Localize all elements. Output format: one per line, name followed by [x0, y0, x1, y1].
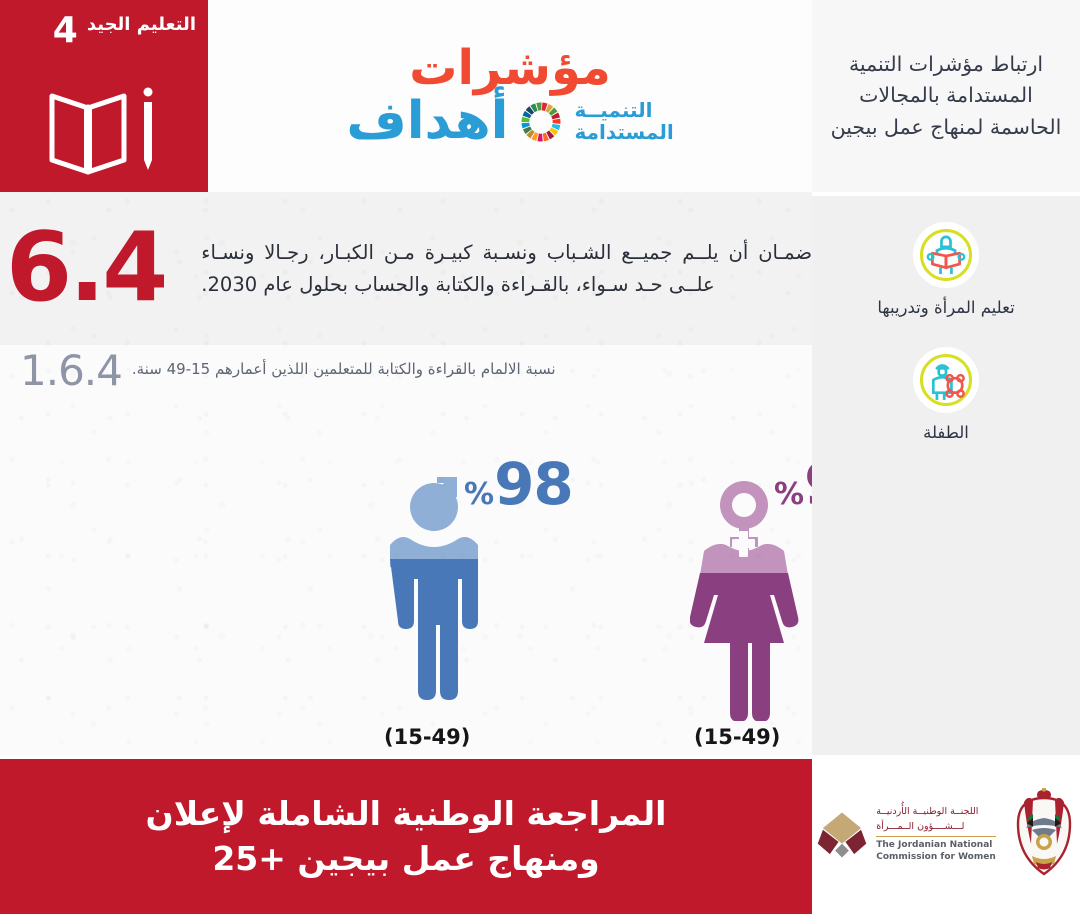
logo-word-tanmia: التنميــة المستدامة — [574, 100, 673, 143]
male-age-label: (15-49) — [384, 725, 470, 749]
goal-number: 4 — [53, 14, 78, 48]
jncw-wordmark: اللجنــة الوطنيــة الأُردنيــة لـــشــــ… — [876, 805, 996, 863]
male-pictogram-icon — [380, 473, 560, 721]
sidebar-icon-circle — [913, 347, 979, 413]
footer-banner-line1: المراجعة الوطنية الشاملة لإعلان — [146, 792, 667, 836]
target-block: 6.4 ضمـان أن يلــم جميــع الشـباب ونسـبة… — [0, 192, 812, 345]
sidebar-item-label: تعليم المرأة وتدريبها — [877, 297, 1014, 319]
jncw-arabic-line1: اللجنــة الوطنيــة الأُردنيــة — [876, 805, 978, 819]
goal-heading: 4 التعليم الجيد — [53, 14, 196, 48]
chart-item-male: % 98 (15-49) — [380, 455, 680, 755]
logo-tanmia-line1: التنميــة — [574, 100, 652, 122]
goal-badge: 4 التعليم الجيد — [0, 0, 208, 192]
sidebar-item-womens-education[interactable]: تعليم المرأة وتدريبها — [812, 222, 1080, 319]
sidebar-item-label: الطفلة — [923, 422, 969, 444]
jncw-arabic-line2: لـــشــــؤون الــمـــرأة — [876, 820, 964, 834]
footer-logos: اللجنــة الوطنيــة الأُردنيــة لـــشــــ… — [812, 755, 1080, 914]
footer-banner: المراجعة الوطنية الشاملة لإعلان ومنهاج ع… — [0, 759, 812, 914]
woman-reading-book-icon — [917, 226, 975, 284]
female-pictogram-icon — [690, 473, 812, 721]
indicator-description: نسبة الالمام بالقراءة والكتابة للمتعلمين… — [132, 360, 556, 382]
indicator-row: 1.6.4 نسبة الالمام بالقراءة والكتابة للم… — [0, 345, 812, 397]
footer-banner-line2: ومنهاج عمل بيجين +25 — [212, 837, 599, 881]
jncw-logo: اللجنــة الوطنيــة الأُردنيــة لـــشــــ… — [816, 805, 996, 863]
logo-word-ahdaf: أهداف — [346, 97, 508, 146]
pictogram-chart: % 98 (15-49) % — [0, 397, 812, 755]
female-age-label: (15-49) — [694, 725, 780, 749]
sidebar-icon-circle — [913, 222, 979, 288]
jncw-english-line1: The Jordanian National — [876, 840, 992, 852]
logo-word-muasherat: مؤشرات — [409, 44, 611, 92]
main-content: 6.4 ضمـان أن يلــم جميــع الشـباب ونسـبة… — [0, 192, 812, 755]
header-side-title-panel: ارتباط مؤشرات التنمية المستدامة بالمجالا… — [812, 0, 1080, 192]
target-number: 6.4 — [0, 226, 179, 312]
target-description: ضمـان أن يلــم جميــع الشـباب ونسـبة كبي… — [179, 237, 812, 300]
chart-item-female: % 96 — [690, 455, 812, 755]
goal-title: التعليم الجيد — [87, 14, 196, 36]
jncw-english-line2: Commission for Women — [876, 852, 996, 864]
sdg-color-wheel-icon — [515, 96, 567, 148]
girl-child-with-teddy-bear-icon — [917, 351, 975, 409]
sidebar-item-girl-child[interactable]: الطفلة — [812, 347, 1080, 444]
jordan-coat-of-arms-icon — [1012, 788, 1076, 882]
open-book-and-pencil-icon — [40, 74, 168, 178]
infographic-page: ارتباط مؤشرات التنمية المستدامة بالمجالا… — [0, 0, 1080, 914]
critical-areas-sidebar: تعليم المرأة وتدريبها — [812, 196, 1080, 755]
divider — [876, 836, 996, 837]
logo-tanmia-line2: المستدامة — [574, 122, 673, 144]
jncw-diamond-mark-icon — [816, 809, 868, 861]
page-title: ارتباط مؤشرات التنمية المستدامة بالمجالا… — [812, 49, 1080, 142]
sdg-logo-block: مؤشرات التنميــة المستدامة — [208, 0, 812, 192]
logo-second-line: التنميــة المستدامة — [346, 96, 673, 148]
header: ارتباط مؤشرات التنمية المستدامة بالمجالا… — [0, 0, 1080, 192]
indicator-number: 1.6.4 — [20, 350, 122, 392]
